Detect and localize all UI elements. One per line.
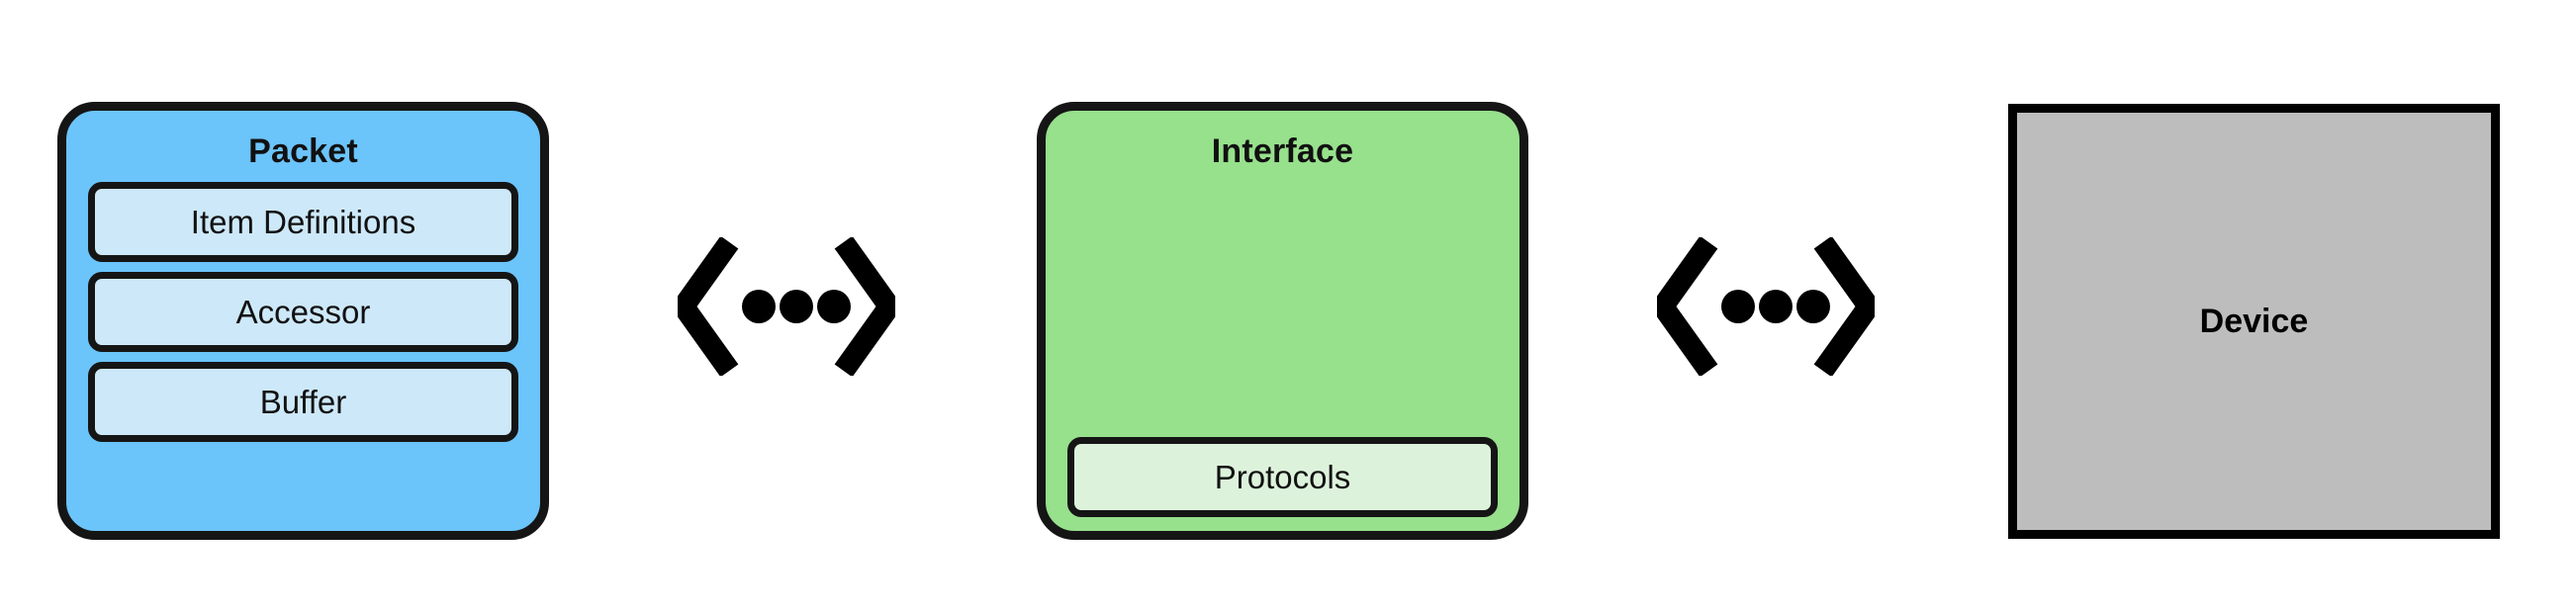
connector-dot (1759, 290, 1793, 323)
packet-item-label: Accessor (236, 294, 371, 331)
bidirectional-chevron-dots-icon (678, 237, 895, 376)
node-interface[interactable]: Interface Protocols (1037, 102, 1528, 540)
node-interface-body: Protocols (1067, 182, 1498, 517)
packet-item-item-definitions[interactable]: Item Definitions (88, 182, 518, 262)
interface-item-protocols[interactable]: Protocols (1067, 437, 1498, 517)
packet-item-buffer[interactable]: Buffer (88, 362, 518, 442)
node-device-title: Device (2200, 303, 2309, 341)
connector-dot (742, 290, 776, 323)
packet-item-label: Item Definitions (191, 204, 415, 241)
connector-packet-interface (678, 237, 895, 376)
packet-item-label: Buffer (260, 384, 346, 421)
interface-item-label: Protocols (1215, 459, 1351, 496)
connector-dot (780, 290, 813, 323)
connector-dot (1796, 290, 1830, 323)
node-interface-title: Interface (1067, 129, 1498, 174)
node-packet-body: Item Definitions Accessor Buffer (88, 182, 518, 517)
diagram-canvas: Packet Item Definitions Accessor Buffer (0, 0, 2576, 613)
node-packet[interactable]: Packet Item Definitions Accessor Buffer (57, 102, 549, 540)
packet-item-accessor[interactable]: Accessor (88, 272, 518, 352)
connector-dot (817, 290, 851, 323)
node-packet-title: Packet (88, 129, 518, 174)
node-device[interactable]: Device (2008, 104, 2500, 539)
connector-dot (1721, 290, 1755, 323)
bidirectional-chevron-dots-icon (1657, 237, 1875, 376)
connector-interface-device (1657, 237, 1875, 376)
